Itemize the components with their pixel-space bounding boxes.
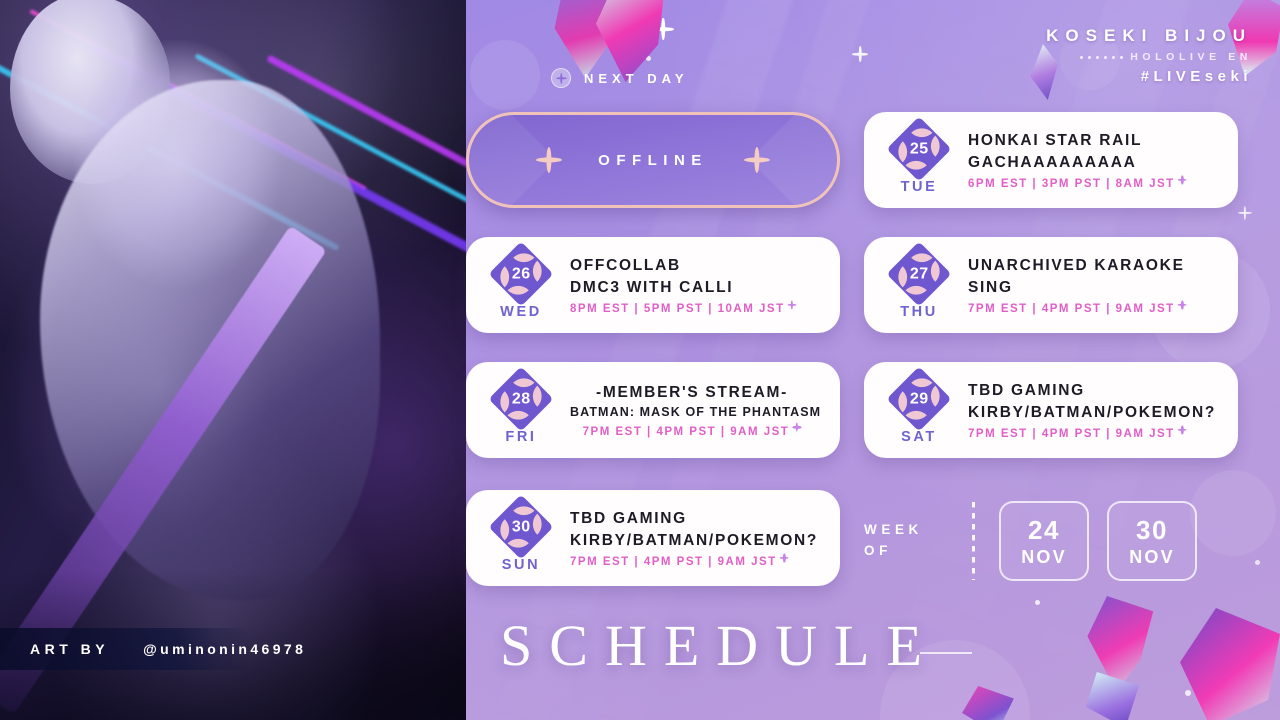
- character-artwork-panel: [0, 0, 466, 720]
- stream-title-line1: TBD GAMING: [570, 508, 824, 530]
- stream-times-text: 7PM EST | 4PM PST | 9AM JST: [968, 428, 1175, 440]
- card-body: TBD GAMING KIRBY/BATMAN/POKEMON? 7PM EST…: [558, 508, 824, 568]
- date-number: 30: [512, 517, 531, 535]
- stream-times: 8PM EST | 5PM PST | 10AM JST: [570, 303, 824, 315]
- agency-label: HOLOLIVE EN: [1130, 51, 1252, 63]
- stream-times-text: 7PM EST | 4PM PST | 9AM JST: [968, 303, 1175, 315]
- date-diamond-icon: 25: [886, 116, 951, 181]
- week-start-month: NOV: [1021, 548, 1067, 566]
- stream-times-text: 7PM EST | 4PM PST | 9AM JST: [570, 556, 777, 568]
- date-badge: 25 TUE: [882, 126, 956, 195]
- week-end-month: NOV: [1129, 548, 1175, 566]
- next-day-marker: NEXT DAY: [551, 68, 689, 88]
- sparkle-icon: [788, 300, 797, 309]
- schedule-card[interactable]: 25 TUE HONKAI STAR RAIL GACHAAAAAAAAA 6P…: [864, 112, 1238, 208]
- week-of-label-line2: OF: [864, 541, 972, 562]
- schedule-graphic: ART BY @uminonin46978 KOSEKI BIJOU HOLOL…: [0, 0, 1280, 720]
- schedule-card[interactable]: 28 FRI -MEMBER'S STREAM- BATMAN: MASK OF…: [466, 362, 840, 458]
- stream-title-line2: GACHAAAAAAAAA: [968, 152, 1222, 174]
- card-body: TBD GAMING KIRBY/BATMAN/POKEMON? 7PM EST…: [956, 380, 1222, 440]
- sparkle-icon: [1178, 300, 1187, 309]
- stream-times: 7PM EST | 4PM PST | 9AM JST: [570, 556, 824, 568]
- stream-title-line2: DMC3 WITH CALLI: [570, 277, 824, 299]
- schedule-card[interactable]: 26 WED OFFCOLLAB DMC3 WITH CALLI 8PM EST…: [466, 237, 840, 333]
- stream-title-line2: KIRBY/BATMAN/POKEMON?: [570, 530, 824, 552]
- stream-times: 7PM EST | 4PM PST | 9AM JST: [570, 426, 814, 438]
- schedule-wordmark: SCHEDULE: [500, 612, 939, 679]
- art-credit-label: ART BY: [30, 641, 109, 657]
- stream-title-line1: OFFCOLLAB: [570, 255, 824, 277]
- stream-times: 7PM EST | 4PM PST | 9AM JST: [968, 428, 1222, 440]
- date-number: 26: [512, 264, 531, 282]
- channel-name: KOSEKI BIJOU: [1046, 26, 1252, 46]
- date-diamond-icon: 27: [886, 241, 951, 306]
- date-number: 28: [512, 389, 531, 407]
- art-credit-bar: ART BY @uminonin46978: [0, 628, 250, 670]
- stream-title-line1: -MEMBER'S STREAM-: [570, 382, 814, 404]
- sparkle-icon: [1178, 175, 1187, 184]
- schedule-card[interactable]: 29 SAT TBD GAMING KIRBY/BATMAN/POKEMON? …: [864, 362, 1238, 458]
- schedule-card[interactable]: 27 THU UNARCHIVED KARAOKE SING 7PM EST |…: [864, 237, 1238, 333]
- date-badge: 29 SAT: [882, 376, 956, 445]
- stream-title-line2: SING: [968, 277, 1222, 299]
- week-of-block: WEEK OF 24 NOV 30 NOV: [864, 495, 1215, 587]
- date-badge: 26 WED: [484, 251, 558, 320]
- week-start-day: 24: [1028, 517, 1060, 543]
- art-credit-handle: @uminonin46978: [143, 641, 306, 657]
- next-day-label: NEXT DAY: [584, 71, 689, 86]
- day-of-week: SAT: [882, 429, 956, 445]
- day-of-week: TUE: [882, 179, 956, 195]
- date-badge: 28 FRI: [484, 376, 558, 445]
- agency-line: HOLOLIVE EN: [1046, 51, 1252, 63]
- stream-hashtag: #LIVEseki: [1046, 68, 1252, 85]
- stream-title-line1: HONKAI STAR RAIL: [968, 130, 1222, 152]
- week-end-day: 30: [1136, 517, 1168, 543]
- card-body: UNARCHIVED KARAOKE SING 7PM EST | 4PM PS…: [956, 255, 1222, 315]
- sparkle-icon-right: [744, 147, 770, 173]
- day-of-week: THU: [882, 304, 956, 320]
- date-number: 27: [910, 264, 929, 282]
- stream-title-line2: BATMAN: MASK OF THE PHANTASM: [570, 404, 814, 422]
- stream-times: 7PM EST | 4PM PST | 9AM JST: [968, 303, 1222, 315]
- stream-title-line1: UNARCHIVED KARAOKE: [968, 255, 1222, 277]
- sparkle-icon: [1178, 425, 1187, 434]
- week-end-box: 30 NOV: [1107, 501, 1197, 581]
- stream-title-line1: TBD GAMING: [968, 380, 1222, 402]
- week-start-box: 24 NOV: [999, 501, 1089, 581]
- schedule-card[interactable]: 30 SUN TBD GAMING KIRBY/BATMAN/POKEMON? …: [466, 490, 840, 586]
- day-of-week: WED: [484, 304, 558, 320]
- week-of-label-line1: WEEK: [864, 520, 972, 541]
- date-badge: 30 SUN: [484, 504, 558, 573]
- stream-times-text: 8PM EST | 5PM PST | 10AM JST: [570, 303, 785, 315]
- card-body: HONKAI STAR RAIL GACHAAAAAAAAA 6PM EST |…: [956, 130, 1222, 190]
- offline-label: OFFLINE: [598, 152, 708, 169]
- stream-times-text: 7PM EST | 4PM PST | 9AM JST: [583, 426, 790, 438]
- dotted-divider: [972, 502, 975, 580]
- sparkle-icon: [792, 423, 801, 432]
- card-body: OFFCOLLAB DMC3 WITH CALLI 8PM EST | 5PM …: [558, 255, 824, 315]
- date-number: 25: [910, 139, 929, 157]
- offline-banner: OFFLINE: [466, 112, 840, 208]
- sparkle-circle-icon: [551, 68, 571, 88]
- day-of-week: FRI: [484, 429, 558, 445]
- stream-times: 6PM EST | 3PM PST | 8AM JST: [968, 178, 1222, 190]
- date-badge: 27 THU: [882, 251, 956, 320]
- stream-title-line2: KIRBY/BATMAN/POKEMON?: [968, 402, 1222, 424]
- sparkle-icon: [780, 553, 789, 562]
- stream-times-text: 6PM EST | 3PM PST | 8AM JST: [968, 178, 1175, 190]
- date-diamond-icon: 26: [488, 241, 553, 306]
- week-of-label: WEEK OF: [864, 520, 972, 562]
- brand-header: KOSEKI BIJOU HOLOLIVE EN #LIVEseki: [1046, 26, 1252, 85]
- sparkle-icon-left: [536, 147, 562, 173]
- date-number: 29: [910, 389, 929, 407]
- wordmark-rule: [920, 652, 972, 654]
- date-diamond-icon: 29: [886, 366, 951, 431]
- dot-separator-icon: [1080, 56, 1123, 59]
- day-of-week: SUN: [484, 557, 558, 573]
- card-body: -MEMBER'S STREAM- BATMAN: MASK OF THE PH…: [558, 382, 824, 438]
- date-diamond-icon: 30: [488, 494, 553, 559]
- date-diamond-icon: 28: [488, 366, 553, 431]
